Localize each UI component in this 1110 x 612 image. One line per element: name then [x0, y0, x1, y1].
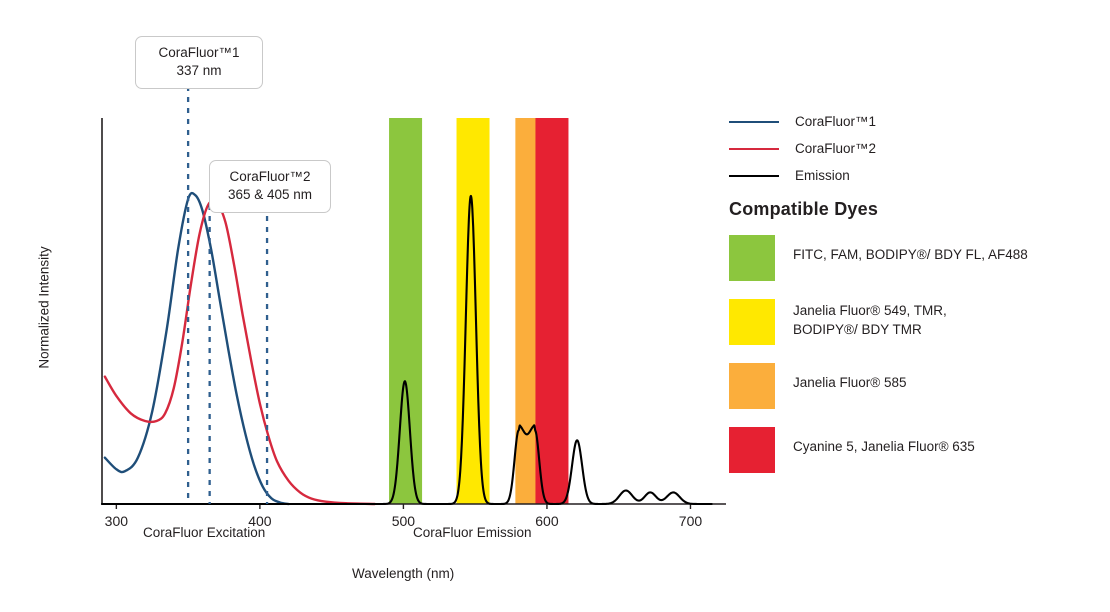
legend-item-label: Emission: [795, 168, 850, 183]
x-axis-tick-label: 600: [522, 513, 572, 529]
excitation-curve: [105, 193, 289, 504]
excitation-curve: [105, 201, 375, 504]
dye-color-swatch-icon: [729, 427, 775, 473]
callout-corafluor2-value: 365 & 405 nm: [222, 186, 318, 204]
y-axis-label: Normalized Intensity: [37, 228, 52, 388]
emission-band: [389, 118, 422, 504]
dye-legend-label: Janelia Fluor® 585: [793, 363, 907, 393]
legend-item: CoraFluor™2: [729, 135, 1099, 162]
legend-item: Emission: [729, 162, 1099, 189]
callout-corafluor2: CoraFluor™2 365 & 405 nm: [209, 160, 331, 213]
legend-item-label: CoraFluor™2: [795, 141, 876, 156]
dye-color-swatch-icon: [729, 363, 775, 409]
legend-item-label: CoraFluor™1: [795, 114, 876, 129]
chart-figure: Normalized Intensity Wavelength (nm) Cor…: [0, 0, 1110, 612]
series-legend: CoraFluor™1CoraFluor™2Emission: [729, 108, 1099, 189]
callout-corafluor1-name: CoraFluor™1: [148, 44, 250, 62]
dye-legend-label-line1: FITC, FAM, BODIPY®/ BDY FL, AF488: [793, 246, 1028, 265]
dye-legend-item: Janelia Fluor® 585: [729, 363, 1099, 409]
x-axis-tick-label: 500: [378, 513, 428, 529]
dye-legend-label-line1: Janelia Fluor® 549, TMR,: [793, 302, 947, 321]
emission-band: [535, 118, 568, 504]
plot-area: Normalized Intensity Wavelength (nm) Cor…: [0, 0, 740, 612]
dye-legend-label: FITC, FAM, BODIPY®/ BDY FL, AF488: [793, 235, 1028, 265]
emission-band: [515, 118, 537, 504]
dye-legend-label: Janelia Fluor® 549, TMR,BODIPY®/ BDY TMR: [793, 299, 947, 339]
x-axis-tick-label: 700: [665, 513, 715, 529]
dye-legend-item: Cyanine 5, Janelia Fluor® 635: [729, 427, 1099, 473]
dye-legend-item: Janelia Fluor® 549, TMR,BODIPY®/ BDY TMR: [729, 299, 1099, 345]
dye-color-swatch-icon: [729, 235, 775, 281]
x-axis-label: Wavelength (nm): [352, 566, 454, 581]
x-axis-tick-label: 300: [91, 513, 141, 529]
dye-legend-item: FITC, FAM, BODIPY®/ BDY FL, AF488: [729, 235, 1099, 281]
dye-legend-label-line1: Cyanine 5, Janelia Fluor® 635: [793, 438, 975, 457]
callout-corafluor1: CoraFluor™1 337 nm: [135, 36, 263, 89]
legend-line-swatch-icon: [729, 121, 779, 123]
x-axis-tick-label: 400: [235, 513, 285, 529]
legend-item: CoraFluor™1: [729, 108, 1099, 135]
legend-line-swatch-icon: [729, 175, 779, 177]
legend-line-swatch-icon: [729, 148, 779, 150]
dye-legend-label-line1: Janelia Fluor® 585: [793, 374, 907, 393]
emission-region-label: CoraFluor Emission: [413, 525, 532, 540]
dye-color-swatch-icon: [729, 299, 775, 345]
callout-corafluor1-value: 337 nm: [148, 62, 250, 80]
dye-legend-label-line2: BODIPY®/ BDY TMR: [793, 321, 947, 340]
compatible-dyes-title: Compatible Dyes: [729, 199, 878, 220]
callout-corafluor2-name: CoraFluor™2: [222, 168, 318, 186]
compatible-dyes-list: FITC, FAM, BODIPY®/ BDY FL, AF488Janelia…: [729, 235, 1099, 491]
dye-legend-label: Cyanine 5, Janelia Fluor® 635: [793, 427, 975, 457]
